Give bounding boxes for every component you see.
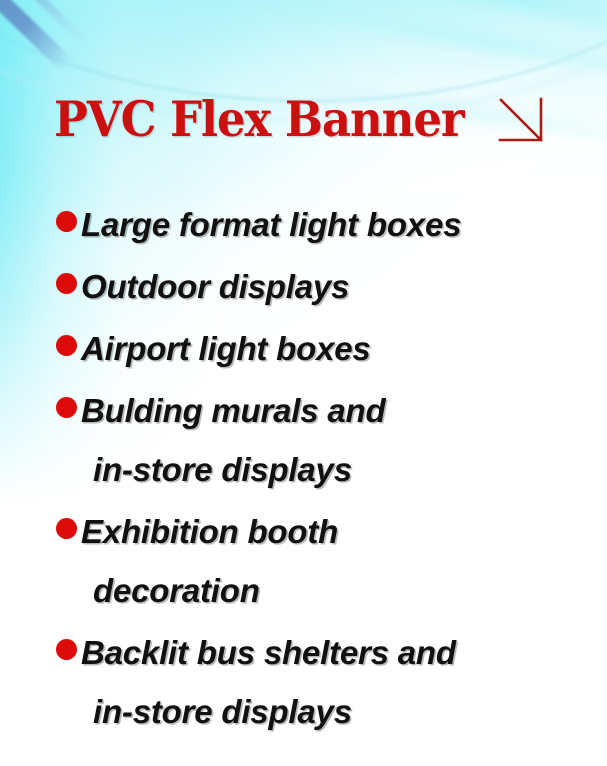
list-item-label: Airport light boxes bbox=[81, 320, 371, 378]
list-item-label: Bulding murals and bbox=[81, 382, 385, 440]
list-item-label-continued: in-store displays bbox=[93, 441, 352, 499]
slide-canvas: PVC Flex Banner Large format light boxes bbox=[0, 0, 607, 766]
list-item-label-continued: decoration bbox=[93, 562, 260, 620]
red-dot-bullet-icon bbox=[56, 518, 77, 539]
list-item: Bulding murals and in-store displays bbox=[56, 382, 596, 500]
list-item-label: Large format light boxes bbox=[81, 196, 461, 254]
list-item-label: Exhibition booth bbox=[81, 503, 338, 561]
red-dot-bullet-icon bbox=[56, 397, 77, 418]
slide-heading-row: PVC Flex Banner bbox=[54, 88, 551, 150]
list-item: Airport light boxes bbox=[56, 320, 596, 379]
list-item-label: Outdoor displays bbox=[81, 258, 349, 316]
page-title: PVC Flex Banner bbox=[54, 95, 464, 144]
red-dot-bullet-icon bbox=[56, 639, 77, 660]
list-item: Large format light boxes bbox=[56, 196, 596, 255]
list-item: Outdoor displays bbox=[56, 258, 596, 317]
list-item: Exhibition booth decoration bbox=[56, 503, 596, 621]
red-dot-bullet-icon bbox=[56, 211, 77, 232]
red-dot-bullet-icon bbox=[56, 335, 77, 356]
feature-bullet-list: Large format light boxes Outdoor display… bbox=[56, 196, 596, 745]
red-dot-bullet-icon bbox=[56, 273, 77, 294]
list-item-label: Backlit bus shelters and bbox=[81, 624, 456, 682]
list-item: Backlit bus shelters and in-store displa… bbox=[56, 624, 596, 742]
arrow-down-right-icon bbox=[495, 94, 551, 150]
list-item-label-continued: in-store displays bbox=[93, 683, 352, 741]
